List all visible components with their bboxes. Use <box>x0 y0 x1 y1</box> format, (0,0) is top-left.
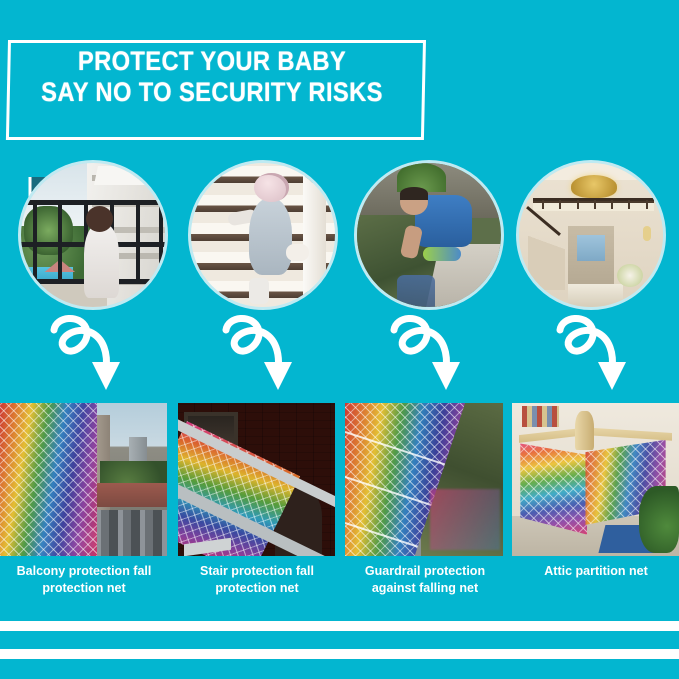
footer-stripe-2 <box>0 631 679 649</box>
footer-stripe-3 <box>0 659 679 679</box>
photo-stairs-baby <box>191 163 335 307</box>
curly-arrow-down-icon-3 <box>390 312 476 394</box>
photo-pond-boy <box>357 163 501 307</box>
product-photo-guardrail-net <box>345 403 503 556</box>
product-photo-stair-net <box>178 403 335 556</box>
caption-stair-net: Stair protection fall protection net <box>178 563 336 597</box>
caption-balcony-net: Balcony protection fall protection net <box>8 563 160 597</box>
product-photo-attic-net <box>512 403 679 556</box>
product-caption-row: Balcony protection fall protection net S… <box>0 563 679 607</box>
problem-photo-loft-interior <box>516 160 666 310</box>
problem-photo-balcony-toddler <box>18 160 168 310</box>
product-photo-row <box>0 403 679 556</box>
problem-photo-stairs-baby <box>188 160 338 310</box>
arrow-row <box>0 312 679 398</box>
curly-arrow-down-icon-1 <box>50 312 136 394</box>
page-title: PROTECT YOUR BABY SAY NO TO SECURITY RIS… <box>32 46 391 108</box>
footer-stripe-decoration <box>0 607 679 679</box>
curly-arrow-down-icon-2 <box>222 312 308 394</box>
caption-attic-net: Attic partition net <box>516 563 676 580</box>
problem-photo-pond-boy <box>354 160 504 310</box>
curly-arrow-down-icon-4 <box>556 312 642 394</box>
infographic-canvas: PROTECT YOUR BABY SAY NO TO SECURITY RIS… <box>0 0 679 679</box>
product-photo-balcony-net <box>0 403 167 556</box>
caption-guardrail-net: Guardrail protection against falling net <box>346 563 504 597</box>
photo-balcony-toddler <box>21 163 165 307</box>
photo-loft-interior <box>519 163 663 307</box>
footer-stripe-1 <box>0 607 679 621</box>
headline-banner: PROTECT YOUR BABY SAY NO TO SECURITY RIS… <box>8 40 426 140</box>
problem-photo-row <box>0 160 679 310</box>
